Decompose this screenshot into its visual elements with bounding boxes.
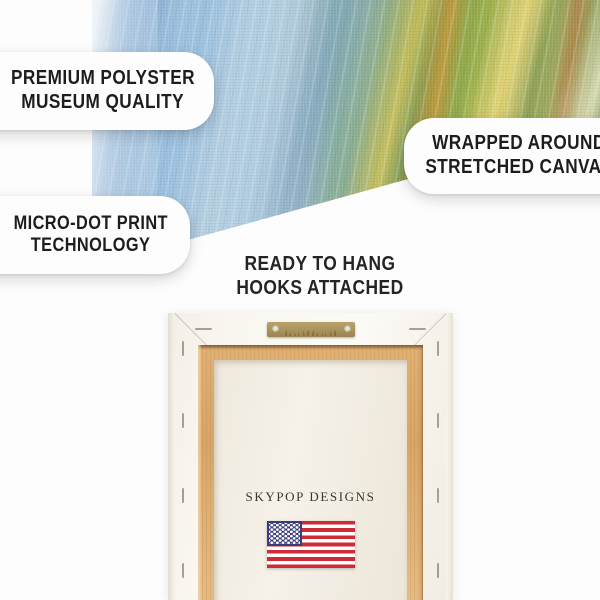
badge-microdot-line1: MICRO-DOT PRINT bbox=[14, 213, 168, 235]
staple-mark bbox=[195, 328, 212, 330]
staple-mark bbox=[182, 563, 184, 578]
staple-mark bbox=[182, 413, 184, 428]
brand-name-skypop-designs: SKYPOP DESIGNS bbox=[168, 489, 453, 505]
sawtooth-hanger-icon bbox=[267, 322, 355, 337]
hanger-screw-hole-left bbox=[272, 325, 279, 332]
badge-wrapped-line2: STRETCHED CANVAS bbox=[425, 156, 600, 180]
badge-premium-polyster: PREMIUM POLYSTER MUSEUM QUALITY bbox=[0, 52, 214, 130]
flag-canton bbox=[267, 521, 302, 546]
caption-line1: READY TO HANG bbox=[223, 252, 418, 276]
us-flag-icon bbox=[267, 521, 355, 568]
badge-microdot-line2: TECHNOLOGY bbox=[31, 235, 151, 257]
stretcher-left-highlight bbox=[198, 345, 202, 600]
staple-mark bbox=[182, 341, 184, 356]
staple-mark bbox=[437, 413, 439, 428]
product-feature-graphic: PREMIUM POLYSTER MUSEUM QUALITY WRAPPED … bbox=[0, 0, 600, 600]
staple-mark bbox=[437, 341, 439, 356]
stretcher-right-shadow bbox=[419, 345, 423, 600]
hanger-teeth bbox=[285, 330, 339, 336]
staple-mark bbox=[409, 328, 426, 330]
badge-micro-dot-print-technology: MICRO-DOT PRINT TECHNOLOGY bbox=[0, 196, 190, 274]
hanger-screw-hole-right bbox=[344, 325, 351, 332]
caption-ready-to-hang: READY TO HANG HOOKS ATTACHED bbox=[208, 252, 432, 301]
canvas-back-photo: SKYPOP DESIGNS bbox=[168, 313, 453, 600]
caption-line2: HOOKS ATTACHED bbox=[223, 276, 418, 300]
badge-wrapped-line1: WRAPPED AROUND bbox=[432, 132, 600, 156]
badge-wrapped-around-stretched-canvas: WRAPPED AROUND STRETCHED CANVAS bbox=[404, 118, 600, 194]
staple-mark bbox=[437, 563, 439, 578]
flag-stars bbox=[269, 523, 300, 544]
badge-premium-line2: MUSEUM QUALITY bbox=[22, 91, 185, 115]
stretcher-top-shadow bbox=[198, 345, 423, 350]
badge-premium-line1: PREMIUM POLYSTER bbox=[11, 67, 195, 91]
